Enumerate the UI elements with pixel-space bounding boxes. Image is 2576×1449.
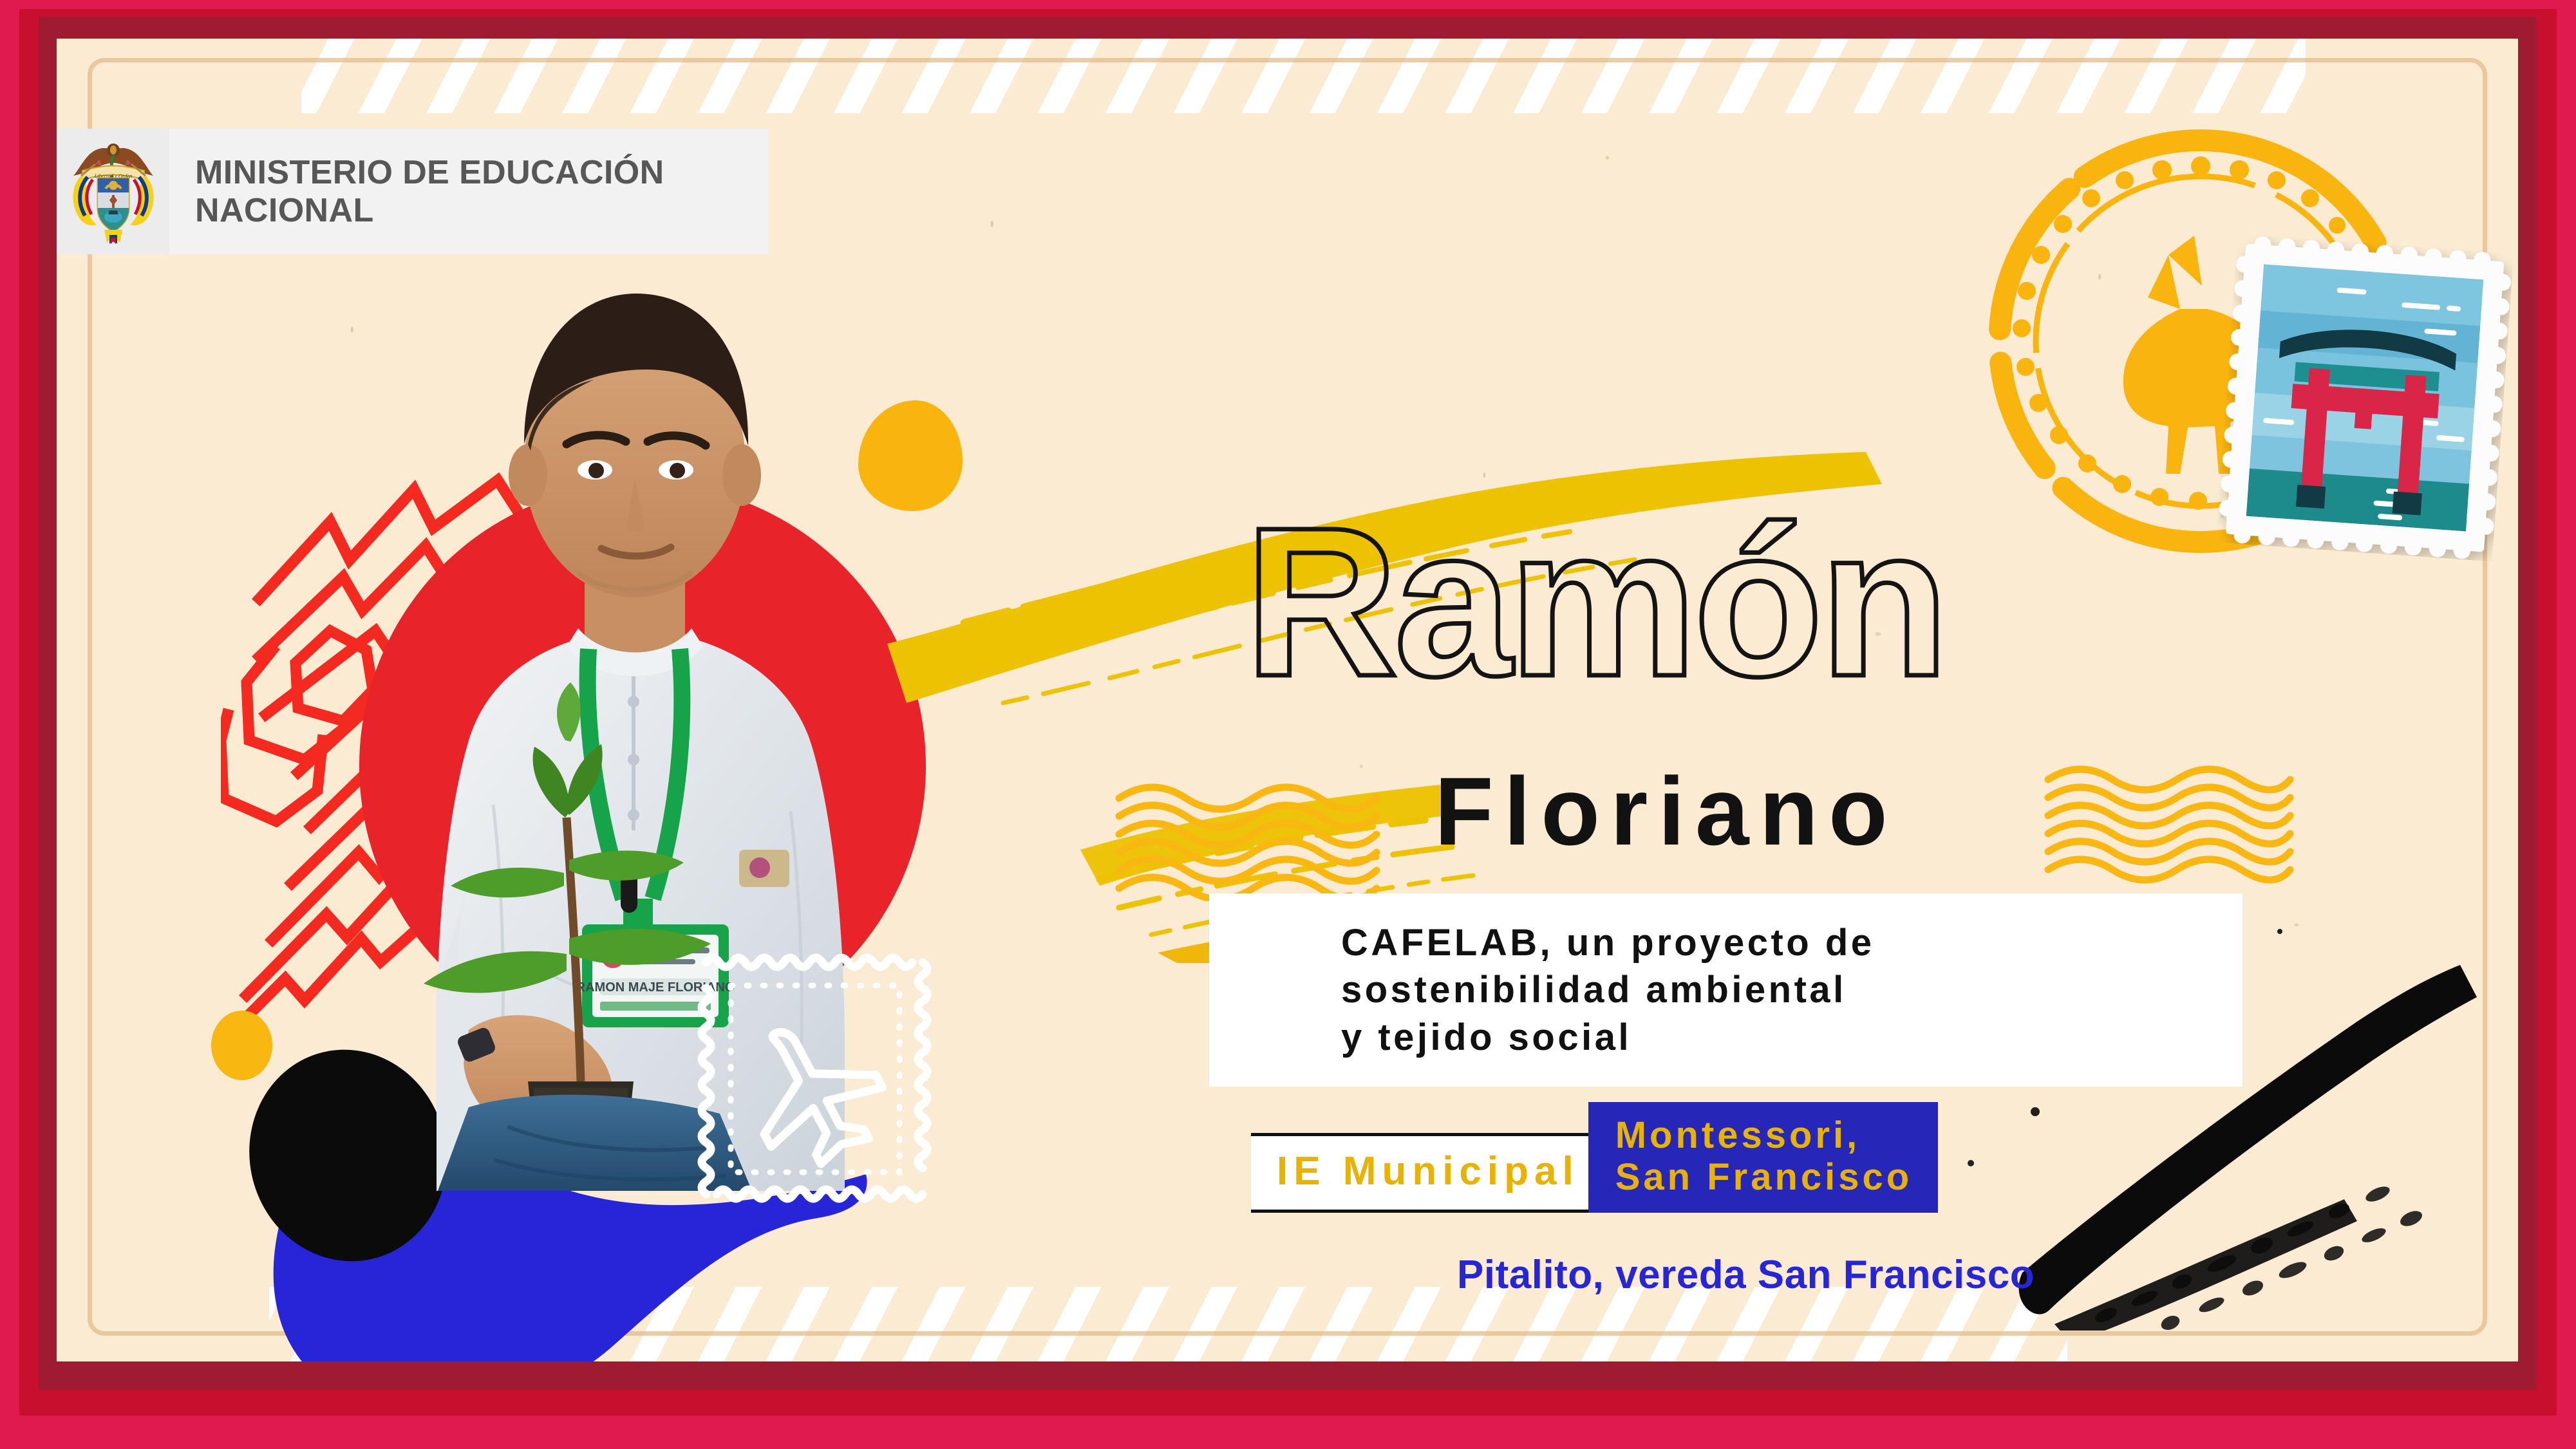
dashed-stamp-frame-icon <box>684 943 942 1213</box>
stripe-mask <box>57 39 301 116</box>
project-title-line-2: sostenibilidad ambiental <box>1341 966 2242 1013</box>
project-title-line-3: y tejido social <box>1341 1014 2242 1061</box>
ministry-title-line-2: NACIONAL <box>195 192 664 230</box>
first-name-heading: Ramón <box>1245 515 1945 689</box>
torii-postage-stamp-icon <box>2216 234 2514 562</box>
project-title-line-1: CAFELAB, un proyecto de <box>1341 919 2242 966</box>
colombia-coat-of-arms-icon: Libertad y Orden <box>68 138 158 245</box>
airplane-icon <box>725 1001 901 1181</box>
ministry-title-line-1: MINISTERIO DE EDUCACIÓN <box>195 154 664 192</box>
school-badge-row: IE Municipal Montessori, San Francisco <box>1251 1133 1938 1213</box>
ministry-title: MINISTERIO DE EDUCACIÓN NACIONAL <box>169 154 664 230</box>
school-name-line-2: San Francisco <box>1615 1157 1912 1199</box>
ministry-crest-cell: Libertad y Orden <box>57 129 169 254</box>
ministry-logo-box: Libertad y Orden <box>57 129 768 254</box>
poster-canvas: RAMON MAJE FLORIANO <box>0 0 2576 1449</box>
school-name-line-1: Montessori, <box>1615 1115 1912 1157</box>
stripe-mask <box>2306 39 2518 116</box>
airmail-stripes-top-icon <box>57 39 2518 113</box>
project-title-box: CAFELAB, un proyecto de sostenibilidad a… <box>1209 893 2242 1087</box>
school-name-badge: Montessori, San Francisco <box>1588 1102 1938 1213</box>
last-name-heading: Floriano <box>1434 763 1898 859</box>
school-prefix-label: IE Municipal <box>1277 1148 1579 1194</box>
locality-label: Pitalito, vereda San Francisco <box>1457 1252 2035 1298</box>
paper-surface: RAMON MAJE FLORIANO <box>57 39 2518 1361</box>
postal-waves-right-icon <box>2043 763 2294 885</box>
postal-waves-left-icon <box>1113 772 1383 901</box>
school-prefix-badge: IE Municipal <box>1251 1133 1601 1213</box>
